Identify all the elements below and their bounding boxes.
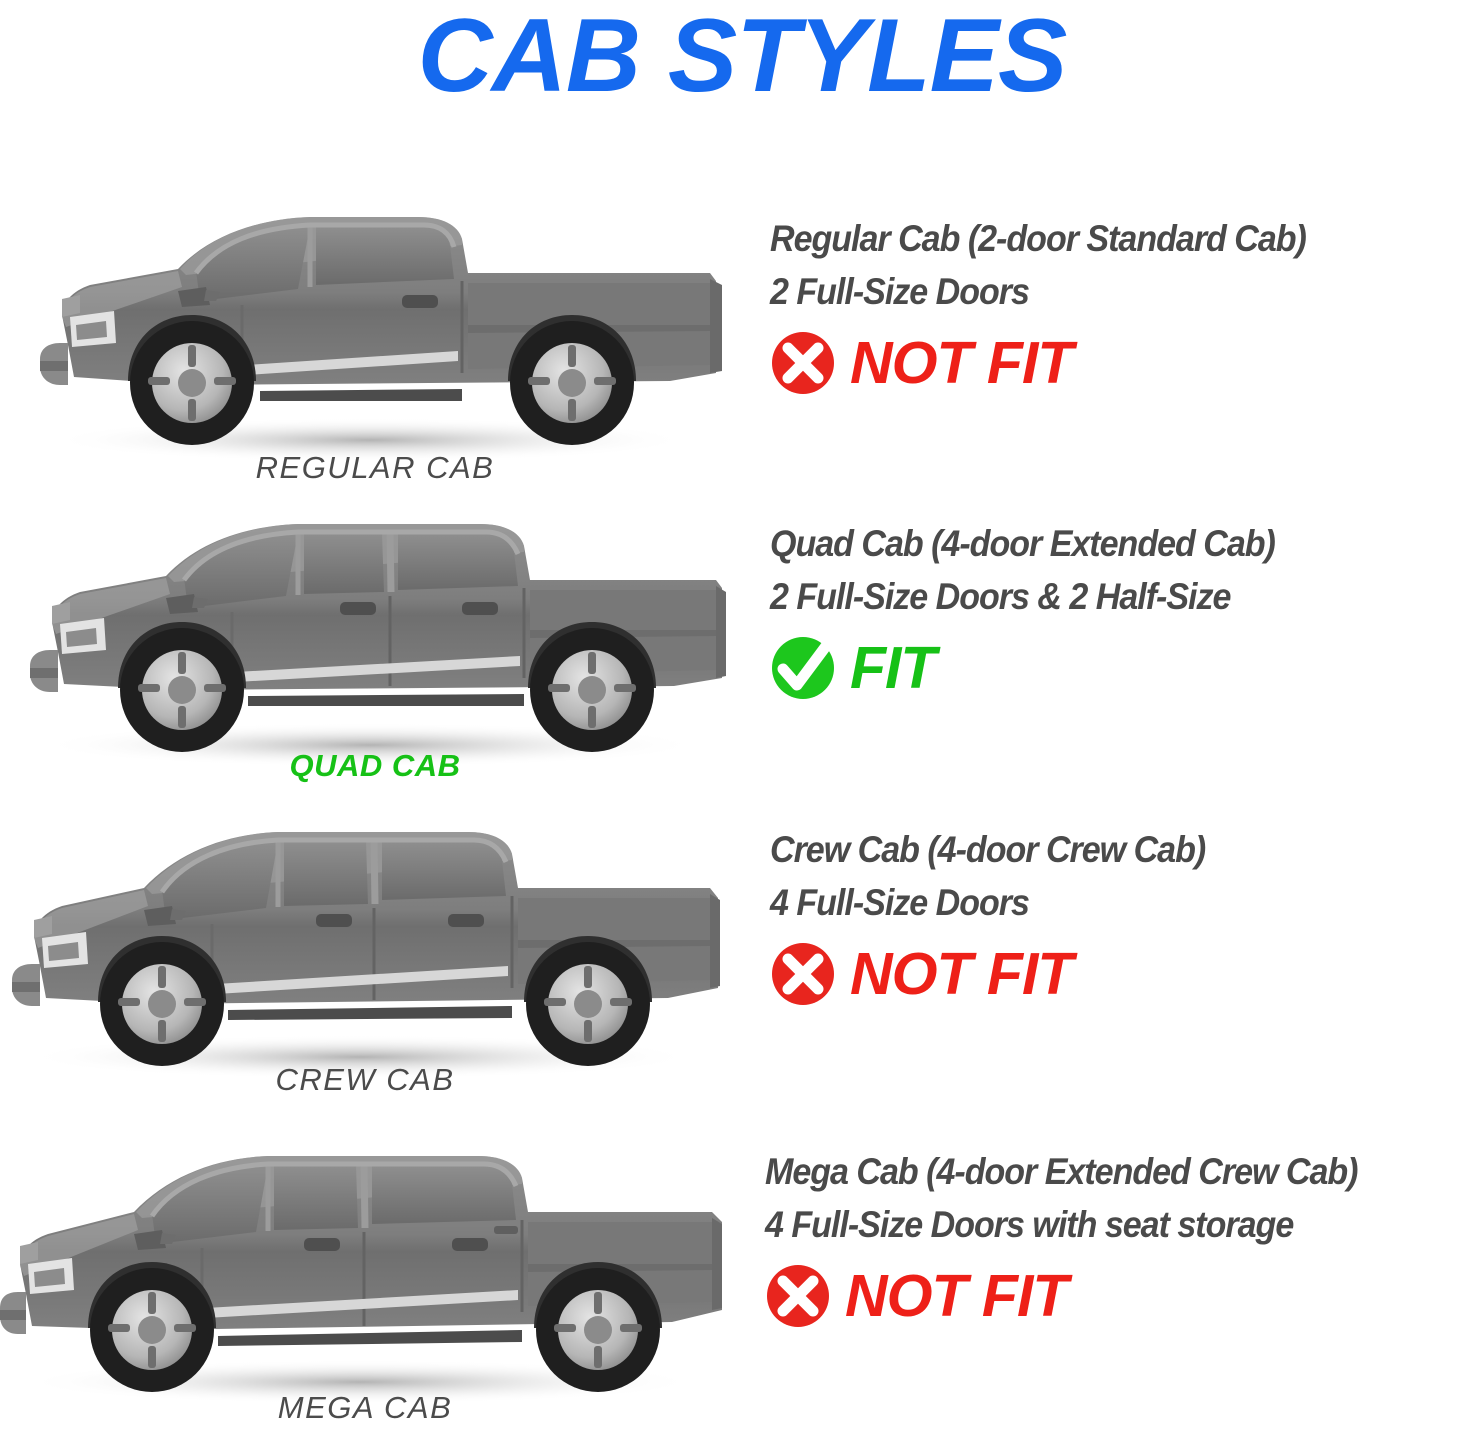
detail-regular-cab: 2 Full-Size Doors bbox=[770, 266, 1427, 319]
heading-quad-cab: Quad Cab (4-door Extended Cab) bbox=[770, 518, 1427, 571]
status-label-regular-cab: NOT FIT bbox=[850, 334, 1072, 393]
x-circle-icon bbox=[770, 941, 836, 1007]
detail-quad-cab: 2 Full-Size Doors & 2 Half-Size bbox=[770, 571, 1427, 624]
heading-crew-cab: Crew Cab (4-door Crew Cab) bbox=[770, 824, 1427, 877]
x-circle-icon bbox=[765, 1263, 831, 1329]
status-label-quad-cab: FIT bbox=[850, 639, 935, 698]
status-badge-regular-cab: NOT FIT bbox=[770, 330, 1484, 396]
info-regular-cab: Regular Cab (2-door Standard Cab) 2 Full… bbox=[770, 213, 1484, 396]
truck-image-regular-cab bbox=[10, 195, 740, 460]
info-quad-cab: Quad Cab (4-door Extended Cab) 2 Full-Si… bbox=[770, 518, 1484, 701]
status-badge-crew-cab: NOT FIT bbox=[770, 941, 1484, 1007]
heading-regular-cab: Regular Cab (2-door Standard Cab) bbox=[770, 213, 1427, 266]
cab-row-regular: REGULAR CAB Regular Cab (2-door Standard… bbox=[0, 195, 1484, 495]
caption-quad-cab: QUAD CAB bbox=[10, 748, 740, 784]
caption-regular-cab: REGULAR CAB bbox=[10, 450, 740, 486]
cab-styles-infographic: CAB STYLES bbox=[0, 0, 1484, 1429]
truck-image-quad-cab bbox=[10, 500, 740, 765]
heading-mega-cab: Mega Cab (4-door Extended Crew Cab) bbox=[765, 1146, 1426, 1199]
caption-mega-cab: MEGA CAB bbox=[0, 1390, 730, 1426]
truck-image-mega-cab bbox=[0, 1138, 730, 1403]
status-label-crew-cab: NOT FIT bbox=[850, 945, 1072, 1004]
check-circle-icon bbox=[770, 635, 836, 701]
detail-crew-cab: 4 Full-Size Doors bbox=[770, 877, 1427, 930]
cab-row-quad: QUAD CAB Quad Cab (4-door Extended Cab) … bbox=[0, 500, 1484, 800]
x-circle-icon bbox=[770, 330, 836, 396]
detail-mega-cab: 4 Full-Size Doors with seat storage bbox=[765, 1199, 1426, 1252]
status-badge-mega-cab: NOT FIT bbox=[765, 1263, 1484, 1329]
caption-crew-cab: CREW CAB bbox=[0, 1062, 730, 1098]
info-crew-cab: Crew Cab (4-door Crew Cab) 4 Full-Size D… bbox=[770, 824, 1484, 1007]
cab-row-mega: MEGA CAB Mega Cab (4-door Extended Crew … bbox=[0, 1138, 1484, 1428]
truck-image-crew-cab bbox=[0, 812, 730, 1077]
page-title: CAB STYLES bbox=[0, 2, 1484, 111]
status-label-mega-cab: NOT FIT bbox=[845, 1267, 1067, 1326]
cab-row-crew: CREW CAB Crew Cab (4-door Crew Cab) 4 Fu… bbox=[0, 812, 1484, 1112]
info-mega-cab: Mega Cab (4-door Extended Crew Cab) 4 Fu… bbox=[765, 1146, 1484, 1329]
status-badge-quad-cab: FIT bbox=[770, 635, 1484, 701]
